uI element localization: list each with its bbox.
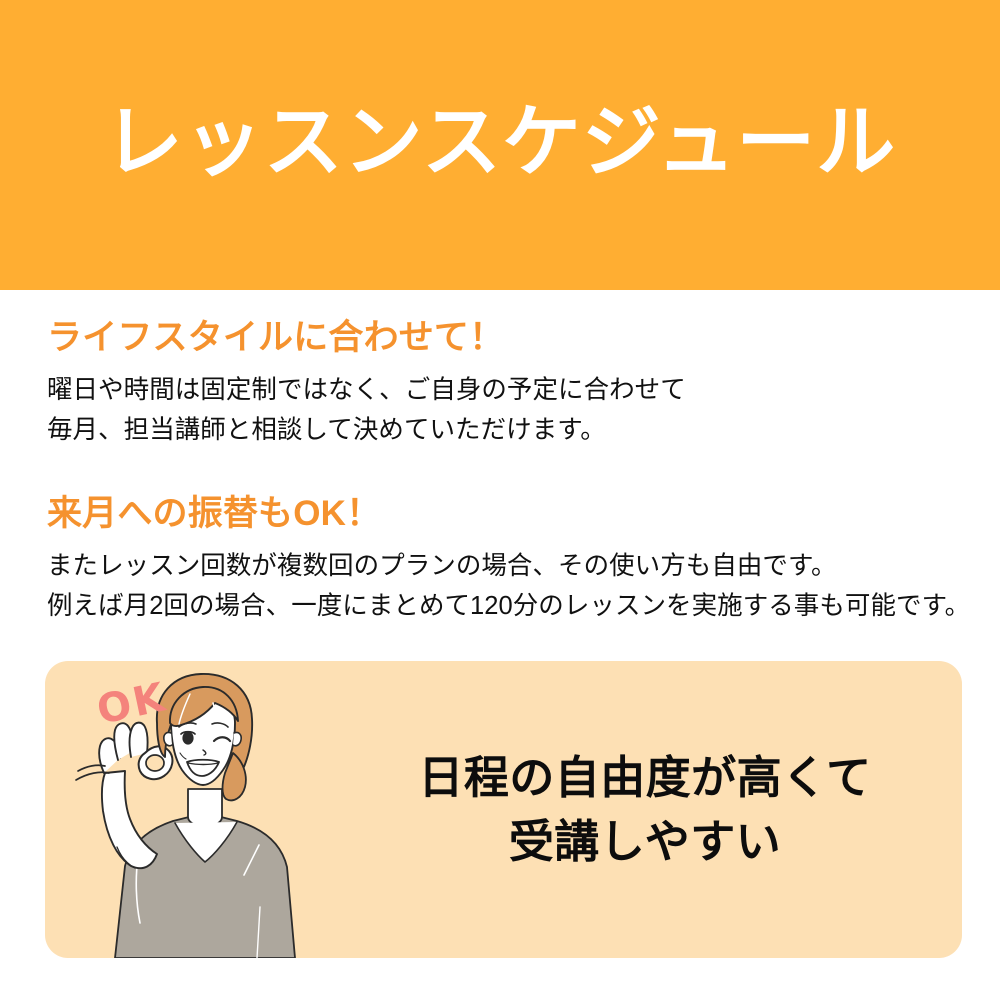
body-line: またレッスン回数が複数回のプランの場合、その使い方も自由です。 [47, 546, 970, 586]
page-root: レッスンスケジュール ライフスタイルに合わせて！ 曜日や時間は固定制ではなく、ご… [0, 0, 1000, 1000]
section-body-carryover: またレッスン回数が複数回のプランの場合、その使い方も自由です。 例えば月2回の場… [47, 546, 970, 626]
highlight-card-text: 日程の自由度が高くて 受講しやすい [345, 661, 945, 958]
highlight-card: OK 日程の自由度が高くて 受講しやすい [45, 661, 962, 958]
header-banner: レッスンスケジュール [0, 0, 1000, 290]
page-title: レッスンスケジュール [104, 102, 896, 181]
section-lifestyle: ライフスタイルに合わせて！ 曜日や時間は固定制ではなく、ご自身の予定に合わせて … [47, 318, 686, 450]
woman-ok-illustration-svg [45, 661, 345, 958]
body-line: 例えば月2回の場合、一度にまとめて120分のレッスンを実施する事も可能です。 [47, 586, 970, 626]
body-line: 毎月、担当講師と相談して決めていただけます。 [47, 410, 686, 450]
section-heading-carryover: 来月への振替もOK！ [47, 494, 970, 534]
card-line: 日程の自由度が高くて [418, 749, 871, 807]
section-heading-lifestyle: ライフスタイルに合わせて！ [47, 318, 686, 358]
section-body-lifestyle: 曜日や時間は固定制ではなく、ご自身の予定に合わせて 毎月、担当講師と相談して決め… [47, 370, 686, 450]
woman-ok-illustration: OK [45, 661, 345, 958]
section-carryover: 来月への振替もOK！ またレッスン回数が複数回のプランの場合、その使い方も自由で… [47, 494, 970, 626]
card-line: 受講しやすい [509, 813, 781, 871]
body-line: 曜日や時間は固定制ではなく、ご自身の予定に合わせて [47, 370, 686, 410]
